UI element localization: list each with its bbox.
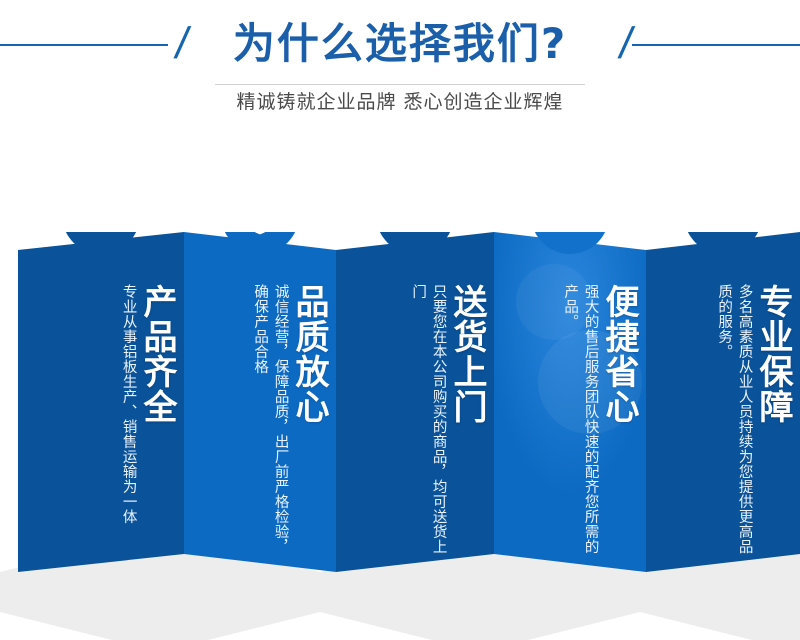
panel-5-content: 专业保障 多名高素质从业人员持续为您提供更高品质的服务。 [646, 232, 800, 572]
feature-panel-1[interactable]: 产品齐全 专业从事铝板生产、销售运输为一体 [18, 232, 184, 572]
feature-panel-strip: 产品齐全 专业从事铝板生产、销售运输为一体 [0, 232, 800, 640]
feature-panel-5[interactable]: 专业保障 多名高素质从业人员持续为您提供更高品质的服务。 [646, 232, 800, 572]
panel-4-content: 便捷省心 强大的售后服务团队快速的配齐您所需的产品。 [494, 232, 646, 572]
panel-1-desc: 专业从事铝板生产、销售运输为一体 [118, 284, 139, 524]
panel-3-content: 送货上门 只要您在本公司购买的商品，均可送货上门 [336, 232, 494, 572]
panel-1-title: 产品齐全 [139, 284, 174, 424]
page-title: 为什么选择我们? [0, 14, 800, 74]
panel-3-desc: 只要您在本公司购买的商品，均可送货上门 [407, 284, 448, 556]
feature-panel-3[interactable]: 送货上门 只要您在本公司购买的商品，均可送货上门 [336, 232, 494, 572]
feature-panel-2[interactable]: 品质放心 诚信经营，保障品质，出厂前严格检验，确保产品合格 质 [184, 232, 336, 572]
panel-2-content: 品质放心 诚信经营，保障品质，出厂前严格检验，确保产品合格 [184, 232, 336, 572]
panel-5-title: 专业保障 [755, 284, 790, 424]
panel-5-desc: 多名高素质从业人员持续为您提供更高品质的服务。 [713, 284, 754, 556]
panel-4-title: 便捷省心 [601, 284, 636, 424]
page-root: / / 为什么选择我们? 精诚铸就企业品牌 悉心创造企业辉煌 产品齐全 专业从事… [0, 0, 800, 640]
page-subtitle: 精诚铸就企业品牌 悉心创造企业辉煌 [0, 88, 800, 116]
panel-1-content: 产品齐全 专业从事铝板生产、销售运输为一体 [18, 232, 184, 572]
panel-3-title: 送货上门 [449, 284, 484, 424]
panel-4-desc: 强大的售后服务团队快速的配齐您所需的产品。 [559, 284, 600, 556]
feature-panel-4[interactable]: 便捷省心 强大的售后服务团队快速的配齐您所需的产品。 [494, 232, 646, 572]
page-header: / / 为什么选择我们? 精诚铸就企业品牌 悉心创造企业辉煌 [0, 0, 800, 140]
panel-2-desc: 诚信经营，保障品质，出厂前严格检验，确保产品合格 [249, 284, 290, 556]
header-subrule [215, 84, 585, 85]
panel-2-title: 品质放心 [291, 284, 326, 424]
